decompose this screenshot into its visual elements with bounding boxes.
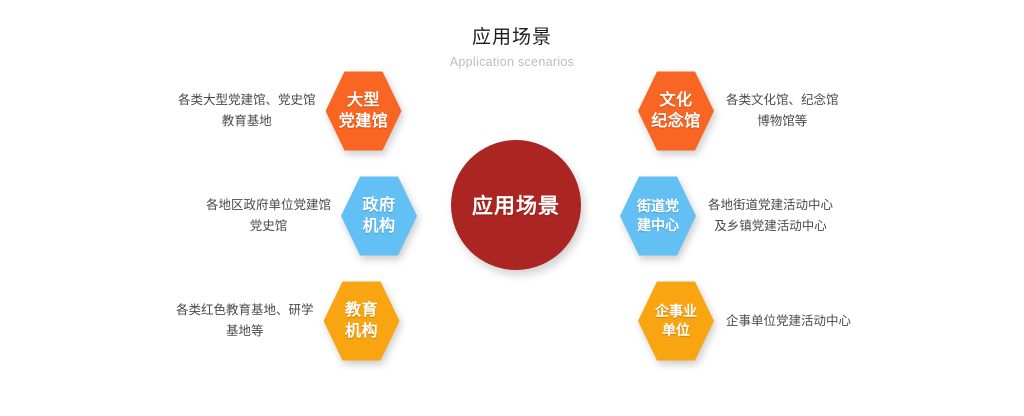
node-description: 各地街道党建活动中心 及乡镇党建活动中心 xyxy=(708,195,833,237)
hexagon-shape: 企事业 单位 xyxy=(638,279,714,363)
node-cultural-memorial-hall[interactable]: 文化 纪念馆 各类文化馆、纪念馆 博物馆等 xyxy=(638,69,839,153)
hexagon-government-institution[interactable]: 政府 机构 xyxy=(341,174,417,258)
hexagon-shape: 教育 机构 xyxy=(324,279,400,363)
node-street-party-center[interactable]: 街道党 建中心 各地街道党建活动中心 及乡镇党建活动中心 xyxy=(620,174,833,258)
node-description: 企事单位党建活动中心 xyxy=(726,311,851,332)
header: 应用场景 Application scenarios xyxy=(0,26,1024,70)
hexagon-shape: 文化 纪念馆 xyxy=(638,69,714,153)
hexagon-label: 大型 党建馆 xyxy=(339,90,389,132)
hexagon-label: 企事业 单位 xyxy=(655,302,697,340)
node-large-party-building-hall[interactable]: 大型 党建馆 各类大型党建馆、党史馆 教育基地 xyxy=(178,69,402,153)
center-hub: 应用场景 xyxy=(451,140,581,270)
center-hub-label: 应用场景 xyxy=(472,190,560,220)
node-description: 各类文化馆、纪念馆 博物馆等 xyxy=(726,90,839,132)
node-description: 各类红色教育基地、研学 基地等 xyxy=(176,300,314,342)
node-government-institution[interactable]: 政府 机构 各地区政府单位党建馆 党史馆 xyxy=(206,174,417,258)
hexagon-street-party-center[interactable]: 街道党 建中心 xyxy=(620,174,696,258)
node-description: 各地区政府单位党建馆 党史馆 xyxy=(206,195,331,237)
hexagon-label: 教育 机构 xyxy=(345,300,378,342)
hexagon-shape: 街道党 建中心 xyxy=(620,174,696,258)
hexagon-label: 政府 机构 xyxy=(363,195,396,237)
hexagon-education-institution[interactable]: 教育 机构 xyxy=(324,279,400,363)
hexagon-enterprise-institution[interactable]: 企事业 单位 xyxy=(638,279,714,363)
page-subtitle: Application scenarios xyxy=(0,54,1024,70)
page-title: 应用场景 xyxy=(0,26,1024,50)
hexagon-large-party-building-hall[interactable]: 大型 党建馆 xyxy=(326,69,402,153)
hexagon-label: 街道党 建中心 xyxy=(637,197,679,235)
application-scenarios-infographic: 应用场景 Application scenarios 应用场景 大型 党建馆 各… xyxy=(0,0,1024,416)
node-description: 各类大型党建馆、党史馆 教育基地 xyxy=(178,90,316,132)
hexagon-cultural-memorial-hall[interactable]: 文化 纪念馆 xyxy=(638,69,714,153)
node-enterprise-institution[interactable]: 企事业 单位 企事单位党建活动中心 xyxy=(638,279,851,363)
hexagon-label: 文化 纪念馆 xyxy=(651,90,701,132)
hexagon-shape: 大型 党建馆 xyxy=(326,69,402,153)
node-education-institution[interactable]: 教育 机构 各类红色教育基地、研学 基地等 xyxy=(176,279,400,363)
hexagon-shape: 政府 机构 xyxy=(341,174,417,258)
